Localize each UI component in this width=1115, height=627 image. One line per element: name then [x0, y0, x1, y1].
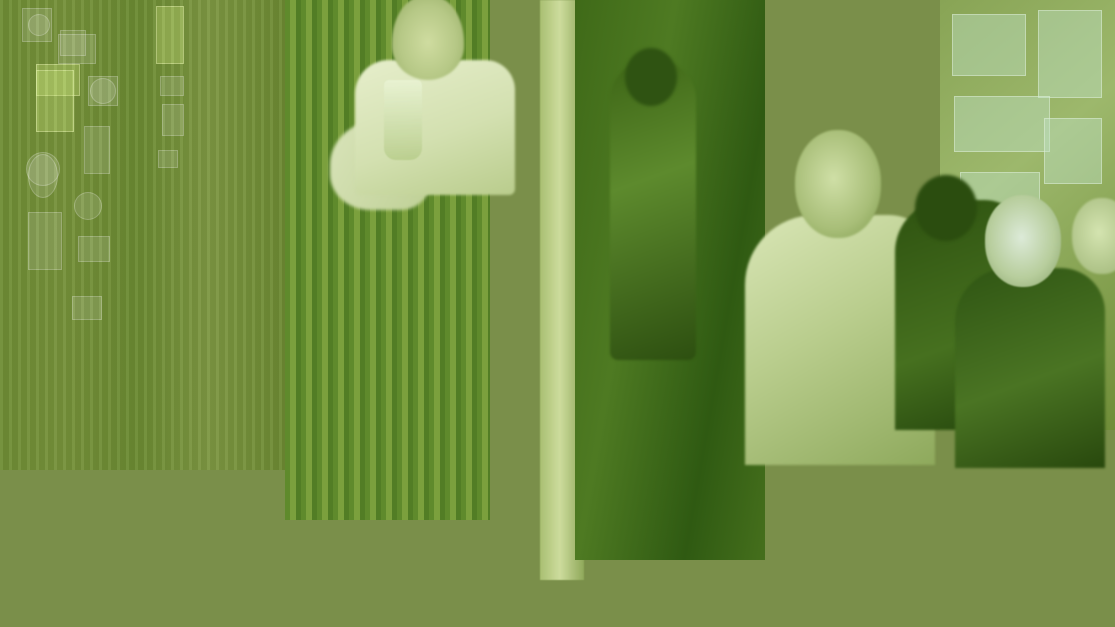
sticker [78, 236, 110, 262]
poster [954, 96, 1050, 152]
sticker [162, 104, 184, 136]
sticker [36, 70, 74, 132]
guest-dark-head [915, 175, 977, 241]
sticker [26, 152, 60, 186]
sticker-wall [0, 0, 300, 470]
sticker [88, 76, 118, 106]
sticker [28, 212, 62, 270]
sticker [72, 296, 102, 320]
sticker [74, 192, 102, 220]
guest-bearded-head [795, 130, 881, 238]
sticker [36, 64, 80, 96]
sticker [22, 8, 52, 42]
sticker [60, 30, 86, 56]
seated-man-shirt [355, 60, 515, 195]
guest-woman-head [985, 195, 1061, 287]
sticker [84, 126, 110, 174]
poster [952, 14, 1026, 76]
background-photo [0, 0, 1115, 627]
video-thumbnail-slide: Crystal Ball Method Of Attracting Guests… [0, 0, 1115, 627]
sticker [160, 76, 184, 96]
sticker [90, 78, 116, 104]
seated-man-head [392, 0, 464, 80]
sticker [28, 154, 58, 198]
drinking-glass [384, 80, 422, 160]
poster [1044, 118, 1102, 184]
sticker [156, 6, 184, 64]
sticker [58, 34, 96, 64]
sticker [158, 150, 178, 168]
standing-person-head [625, 48, 677, 106]
foreground-bench-area [0, 417, 1115, 627]
poster [1038, 10, 1102, 98]
sticker [28, 14, 50, 36]
